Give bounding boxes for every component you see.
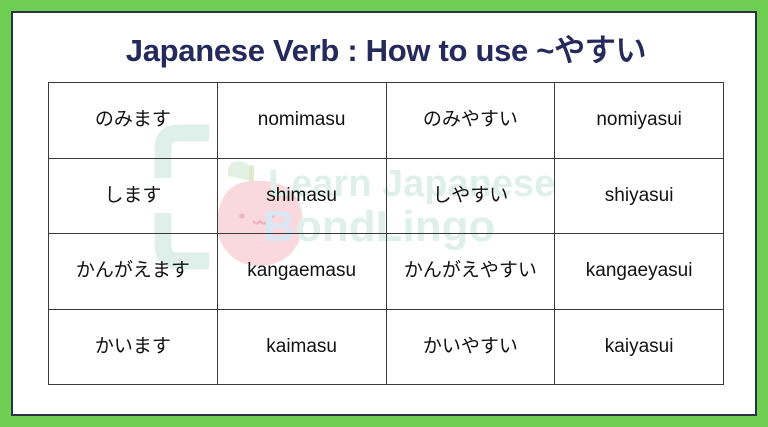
masu-romaji-cell: kaimasu xyxy=(217,309,386,385)
table-row: かいます kaimasu かいやすい kaiyasui xyxy=(49,309,724,385)
white-content-card: Learn Japanese B ondLingo Japanese Verb … xyxy=(11,11,757,416)
table-row: のみます nomimasu のみやすい nomiyasui xyxy=(49,83,724,159)
masu-romaji-cell: nomimasu xyxy=(217,83,386,159)
page-title: Japanese Verb : How to use ~やすい xyxy=(13,25,757,70)
yasui-romaji-cell: kangaeyasui xyxy=(555,234,724,310)
verb-conjugation-table: のみます nomimasu のみやすい nomiyasui します shimas… xyxy=(48,82,724,385)
yasui-romaji-cell: kaiyasui xyxy=(555,309,724,385)
table-row: かんがえます kangaemasu かんがえやすい kangaeyasui xyxy=(49,234,724,310)
masu-kana-cell: かいます xyxy=(49,309,218,385)
masu-kana-cell: のみます xyxy=(49,83,218,159)
yasui-kana-cell: しやすい xyxy=(386,158,555,234)
masu-kana-cell: かんがえます xyxy=(49,234,218,310)
yasui-romaji-cell: nomiyasui xyxy=(555,83,724,159)
yasui-romaji-cell: shiyasui xyxy=(555,158,724,234)
infographic-canvas: Learn Japanese B ondLingo Japanese Verb … xyxy=(0,0,768,427)
masu-kana-cell: します xyxy=(49,158,218,234)
yasui-kana-cell: かんがえやすい xyxy=(386,234,555,310)
masu-romaji-cell: kangaemasu xyxy=(217,234,386,310)
yasui-kana-cell: かいやすい xyxy=(386,309,555,385)
masu-romaji-cell: shimasu xyxy=(217,158,386,234)
yasui-kana-cell: のみやすい xyxy=(386,83,555,159)
table-row: します shimasu しやすい shiyasui xyxy=(49,158,724,234)
